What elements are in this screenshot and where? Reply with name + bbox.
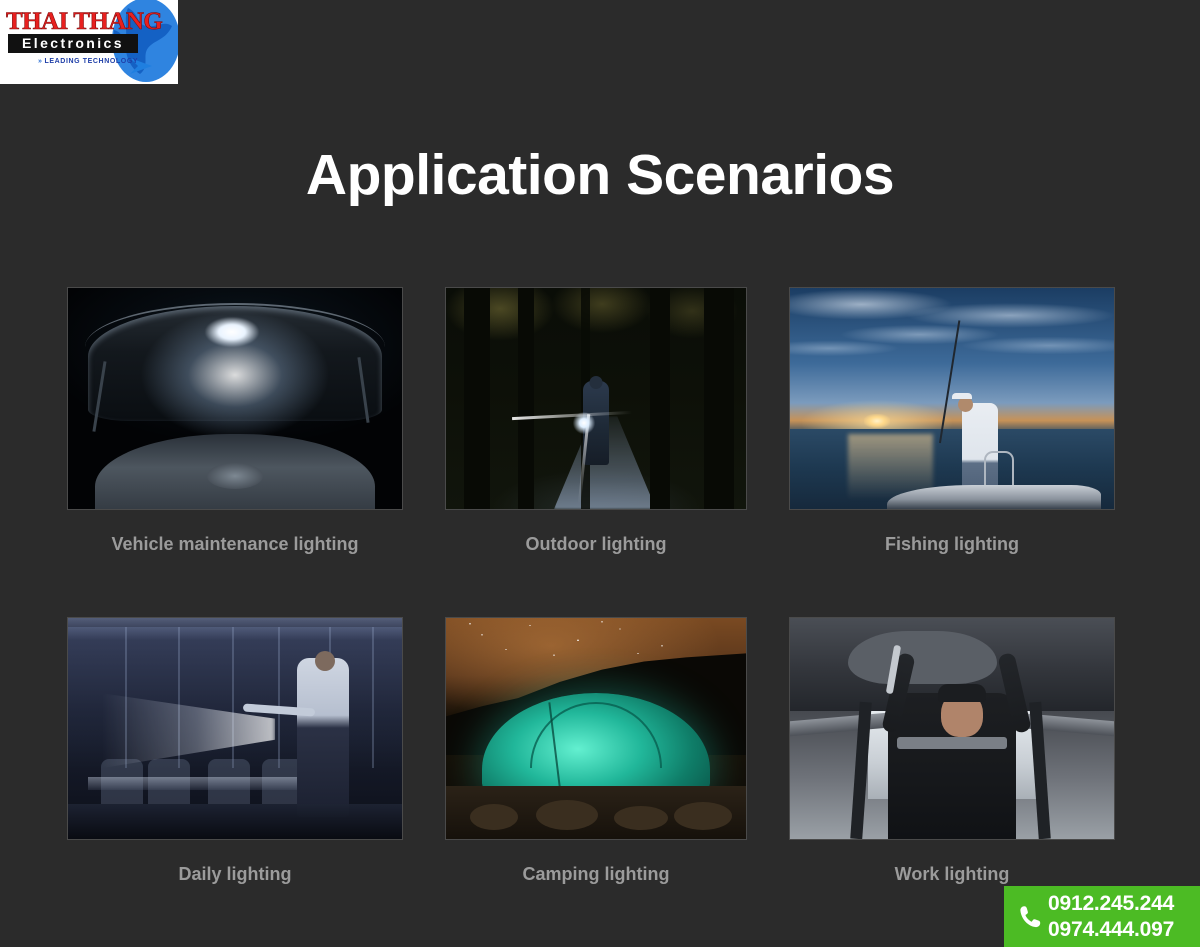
fishing-sunset-illustration [790,288,1114,509]
engine-cap [207,463,263,489]
rock [614,806,668,830]
brand-name-secondary: Electronics [8,34,138,53]
scenario-caption-work: Work lighting [789,864,1115,885]
scenario-card-vehicle-maintenance[interactable]: Vehicle maintenance lighting [67,287,403,555]
chevron-right-icon: » [38,58,43,65]
window-mullion [372,627,374,768]
scenario-card-daily[interactable]: Daily lighting [67,617,403,885]
work-light [205,317,259,347]
scenario-caption-fishing: Fishing lighting [789,534,1115,555]
flashlight-beam [573,412,595,434]
scenario-image-outdoor[interactable] [445,287,747,510]
scenario-card-outdoor[interactable]: Outdoor lighting [445,287,747,555]
scenario-image-work[interactable] [789,617,1115,840]
hotline-badge[interactable]: 0912.245.244 0974.444.097 [1004,886,1200,947]
guard-figure [297,658,349,817]
boat-rail [984,451,1014,489]
camping-tent-illustration [446,618,746,839]
undercarriage-part [848,631,997,684]
phone-icon [1014,903,1048,931]
night-office-illustration [68,618,402,839]
tree-trunk [518,288,534,509]
mechanic-cap [938,684,986,702]
scenario-image-camping[interactable] [445,617,747,840]
page-title: Application Scenarios [0,142,1200,208]
hotline-phone-secondary: 0974.444.097 [1048,917,1174,943]
brand-logo[interactable]: THAI THANG Electronics »LEADING TECHNOLO… [0,0,178,84]
hotline-phone-primary: 0912.245.244 [1048,891,1174,917]
scenario-caption-outdoor: Outdoor lighting [445,534,747,555]
angler-cap [952,393,972,399]
engine-bay-illustration [68,288,402,509]
mechanic-under-vehicle-illustration [790,618,1114,839]
scenario-caption-vehicle-maintenance: Vehicle maintenance lighting [67,534,403,555]
rock [470,804,518,830]
tree-trunk [704,288,734,509]
boat-deck [887,485,1101,509]
rock [536,800,598,830]
scenario-image-vehicle-maintenance[interactable] [67,287,403,510]
scenario-image-fishing[interactable] [789,287,1115,510]
scenario-card-work[interactable]: Work lighting [789,617,1115,885]
forest-trail-illustration [446,288,746,509]
tree-trunk [650,288,670,509]
scenario-row-1: Vehicle maintenance lighting [67,287,1115,555]
scenario-caption-daily: Daily lighting [67,864,403,885]
scenario-row-2: Daily lighting Camping lighting [67,617,1115,885]
rock [674,802,732,830]
sun [864,414,890,428]
scenario-card-fishing[interactable]: Fishing lighting [789,287,1115,555]
brand-tagline: LEADING TECHNOLOGY [45,58,139,65]
scenario-caption-camping: Camping lighting [445,864,747,885]
hotline-numbers: 0912.245.244 0974.444.097 [1048,891,1174,943]
window-mullion [278,627,280,768]
brand-tagline-row: »LEADING TECHNOLOGY [38,58,138,65]
tree-trunk [464,288,490,509]
ceiling-light [68,618,402,640]
scenario-grid: Vehicle maintenance lighting [67,287,1115,885]
brand-name-primary: THAI THANG [6,8,162,36]
office-floor [68,804,402,839]
jacket-stripe [897,737,1007,749]
scenario-card-camping[interactable]: Camping lighting [445,617,747,885]
window-mullion [232,627,234,768]
hiker-head [590,376,603,389]
conference-table [88,777,308,790]
scenario-image-daily[interactable] [67,617,403,840]
